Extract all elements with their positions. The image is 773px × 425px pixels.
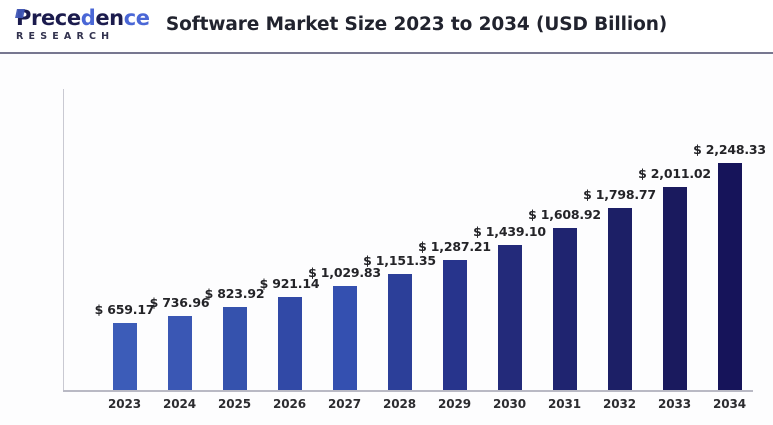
- x-tick-2028: 2028: [372, 397, 427, 411]
- bar-2033[interactable]: [663, 187, 687, 390]
- bar-value-label-2024: $ 736.96: [150, 295, 210, 310]
- x-tick-2027: 2027: [317, 397, 372, 411]
- bar-2027[interactable]: [333, 286, 357, 390]
- bar-slot-2027: $ 1,029.83: [317, 53, 372, 390]
- bar-value-label-2030: $ 1,439.10: [473, 224, 546, 239]
- x-axis-tick-labels: 2023202420252026202720282029203020312032…: [63, 397, 753, 421]
- bar-slot-2034: $ 2,248.33: [702, 53, 757, 390]
- bar-slot-2031: $ 1,608.92: [537, 53, 592, 390]
- x-tick-2029: 2029: [427, 397, 482, 411]
- chart-plot-area: $ 659.17$ 736.96$ 823.92$ 921.14$ 1,029.…: [0, 53, 773, 425]
- bar-value-label-2028: $ 1,151.35: [363, 253, 436, 268]
- bar-2030[interactable]: [498, 245, 522, 390]
- bar-2028[interactable]: [388, 274, 412, 390]
- bar-slot-2033: $ 2,011.02: [647, 53, 702, 390]
- bar-slot-2025: $ 823.92: [207, 53, 262, 390]
- bar-slot-2028: $ 1,151.35: [372, 53, 427, 390]
- bar-2025[interactable]: [223, 307, 247, 390]
- bar-slot-2029: $ 1,287.21: [427, 53, 482, 390]
- bar-slot-2024: $ 736.96: [152, 53, 207, 390]
- bar-slot-2026: $ 921.14: [262, 53, 317, 390]
- bar-slot-2023: $ 659.17: [97, 53, 152, 390]
- x-tick-2030: 2030: [482, 397, 537, 411]
- bar-value-label-2025: $ 823.92: [205, 286, 265, 301]
- bar-slot-2032: $ 1,798.77: [592, 53, 647, 390]
- x-tick-2026: 2026: [262, 397, 317, 411]
- x-tick-2031: 2031: [537, 397, 592, 411]
- bar-value-label-2034: $ 2,248.33: [693, 142, 766, 157]
- chart-header: Precedence RESEARCH Software Market Size…: [0, 0, 773, 53]
- bar-2023[interactable]: [113, 323, 137, 390]
- page-title: Software Market Size 2023 to 2034 (USD B…: [0, 14, 773, 35]
- bar-2029[interactable]: [443, 260, 467, 390]
- bar-2024[interactable]: [168, 316, 192, 390]
- bar-2026[interactable]: [278, 297, 302, 390]
- x-tick-2032: 2032: [592, 397, 647, 411]
- bar-2031[interactable]: [553, 228, 577, 390]
- x-tick-2023: 2023: [97, 397, 152, 411]
- bar-2034[interactable]: [718, 163, 742, 390]
- bar-value-label-2023: $ 659.17: [95, 302, 155, 317]
- bar-value-label-2033: $ 2,011.02: [638, 166, 711, 181]
- x-tick-2024: 2024: [152, 397, 207, 411]
- x-axis-line: [63, 390, 753, 392]
- bar-value-label-2032: $ 1,798.77: [583, 187, 656, 202]
- bar-2032[interactable]: [608, 208, 632, 390]
- x-tick-2025: 2025: [207, 397, 262, 411]
- x-tick-2033: 2033: [647, 397, 702, 411]
- x-tick-2034: 2034: [702, 397, 757, 411]
- bar-value-label-2031: $ 1,608.92: [528, 207, 601, 222]
- bar-value-label-2029: $ 1,287.21: [418, 239, 491, 254]
- bar-series: $ 659.17$ 736.96$ 823.92$ 921.14$ 1,029.…: [63, 53, 753, 390]
